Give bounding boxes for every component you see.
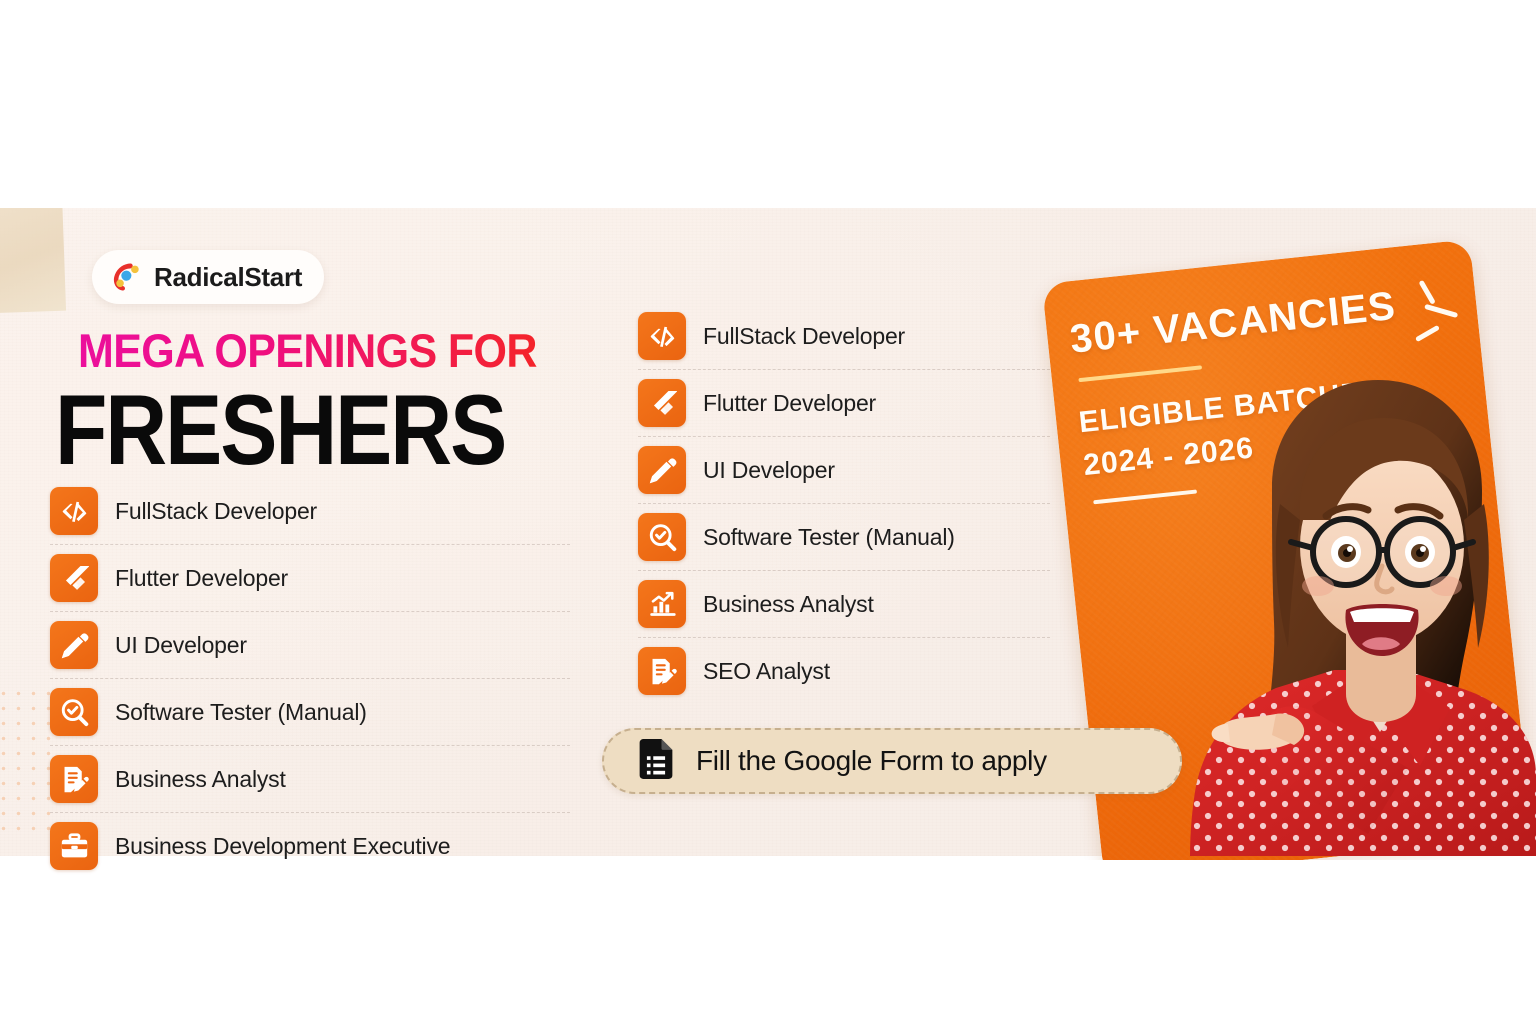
job-list-item[interactable]: FullStack Developer <box>50 478 570 545</box>
job-title-label: UI Developer <box>703 457 835 484</box>
document-pen-icon <box>638 647 686 695</box>
google-form-icon <box>638 739 674 784</box>
job-list-item[interactable]: Software Tester (Manual) <box>638 504 1050 571</box>
job-title-label: Business Analyst <box>115 766 286 793</box>
headline-eyebrow: MEGA OPENINGS FOR <box>78 325 537 379</box>
flutter-icon <box>50 554 98 602</box>
job-title-label: Business Analyst <box>703 591 874 618</box>
briefcase-icon <box>50 822 98 870</box>
job-list-item[interactable]: Flutter Developer <box>638 370 1050 437</box>
pencil-icon <box>638 446 686 494</box>
pointing-woman-photo <box>1180 370 1536 856</box>
job-list-item[interactable]: Business Analyst <box>50 746 570 813</box>
banner-stage: RadicalStart MEGA OPENINGS FOR FRESHERS … <box>0 0 1536 1024</box>
job-title-label: Software Tester (Manual) <box>115 699 367 726</box>
flutter-icon <box>638 379 686 427</box>
job-list-item[interactable]: UI Developer <box>50 612 570 679</box>
tape-corner-decoration <box>0 208 66 313</box>
radicalstart-logo-icon <box>107 259 143 295</box>
apply-button-label: Fill the Google Form to apply <box>696 745 1047 777</box>
job-list-item[interactable]: Flutter Developer <box>50 545 570 612</box>
bar-chart-icon <box>638 580 686 628</box>
job-list-item[interactable]: UI Developer <box>638 437 1050 504</box>
brand-name: RadicalStart <box>154 262 302 293</box>
job-list-item[interactable]: Business Analyst <box>638 571 1050 638</box>
job-list-left: FullStack DeveloperFlutter DeveloperUI D… <box>50 478 570 879</box>
job-list-item[interactable]: Software Tester (Manual) <box>50 679 570 746</box>
job-title-label: SEO Analyst <box>703 658 830 685</box>
brand-logo[interactable]: RadicalStart <box>92 250 324 304</box>
magnifier-check-icon <box>50 688 98 736</box>
document-pen-icon <box>50 755 98 803</box>
job-title-label: Flutter Developer <box>703 390 876 417</box>
page-title: FRESHERS <box>55 373 505 487</box>
code-brackets-icon <box>50 487 98 535</box>
job-title-label: Flutter Developer <box>115 565 288 592</box>
job-title-label: FullStack Developer <box>703 323 905 350</box>
apply-google-form-button[interactable]: Fill the Google Form to apply <box>602 728 1182 794</box>
job-title-label: FullStack Developer <box>115 498 317 525</box>
job-list-item[interactable]: FullStack Developer <box>638 303 1050 370</box>
job-title-label: Business Development Executive <box>115 833 450 860</box>
job-list-middle: FullStack DeveloperFlutter DeveloperUI D… <box>638 303 1050 704</box>
job-list-item[interactable]: Business Development Executive <box>50 813 570 879</box>
job-title-label: UI Developer <box>115 632 247 659</box>
pencil-icon <box>50 621 98 669</box>
job-list-item[interactable]: SEO Analyst <box>638 638 1050 704</box>
code-brackets-icon <box>638 312 686 360</box>
magnifier-check-icon <box>638 513 686 561</box>
job-title-label: Software Tester (Manual) <box>703 524 955 551</box>
